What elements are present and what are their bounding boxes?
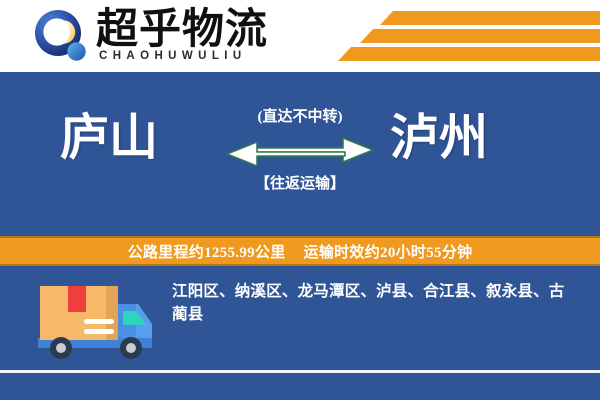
stripe-1 (380, 11, 600, 25)
brand-header: 超乎物流 CHAOHUWULIU (0, 0, 600, 72)
stripe-3 (338, 47, 600, 61)
stripe-2 (360, 29, 600, 43)
coverage-section: 江阳区、纳溪区、龙马潭区、泸县、合江县、叙永县、古蔺县 (0, 266, 600, 370)
double-direction-arrow-icon (215, 153, 385, 170)
route-section: 庐山 (直达不中转) 【往返运输】 泸州 (0, 72, 600, 236)
chaohu-circle-logo-icon (33, 9, 89, 65)
distance-text: 公路里程约1255.99公里 (128, 241, 286, 262)
direct-route-note: (直达不中转) (215, 108, 385, 126)
brand-name-en: CHAOHUWULIU (99, 50, 247, 62)
logistics-route-banner: 超乎物流 CHAOHUWULIU 庐山 (直达不中转) 【往返运输】 泸州 (0, 0, 600, 400)
destination-city: 泸州 (390, 110, 488, 166)
duration-text: 运输时效约20小时55分钟 (304, 241, 473, 262)
coverage-districts: 江阳区、纳溪区、龙马潭区、泸县、合江县、叙永县、古蔺县 (172, 280, 576, 326)
footer-bar (0, 373, 600, 400)
origin-city: 庐山 (60, 110, 158, 166)
delivery-truck-icon (28, 276, 160, 364)
brand-name-cn: 超乎物流 (96, 8, 268, 52)
orange-stripes-decoration (300, 0, 600, 72)
round-trip-note: 【往返运输】 (215, 175, 385, 193)
distance-duration-bar: 公路里程约1255.99公里 运输时效约20小时55分钟 (0, 236, 600, 266)
route-middle-block: (直达不中转) 【往返运输】 (215, 108, 385, 208)
